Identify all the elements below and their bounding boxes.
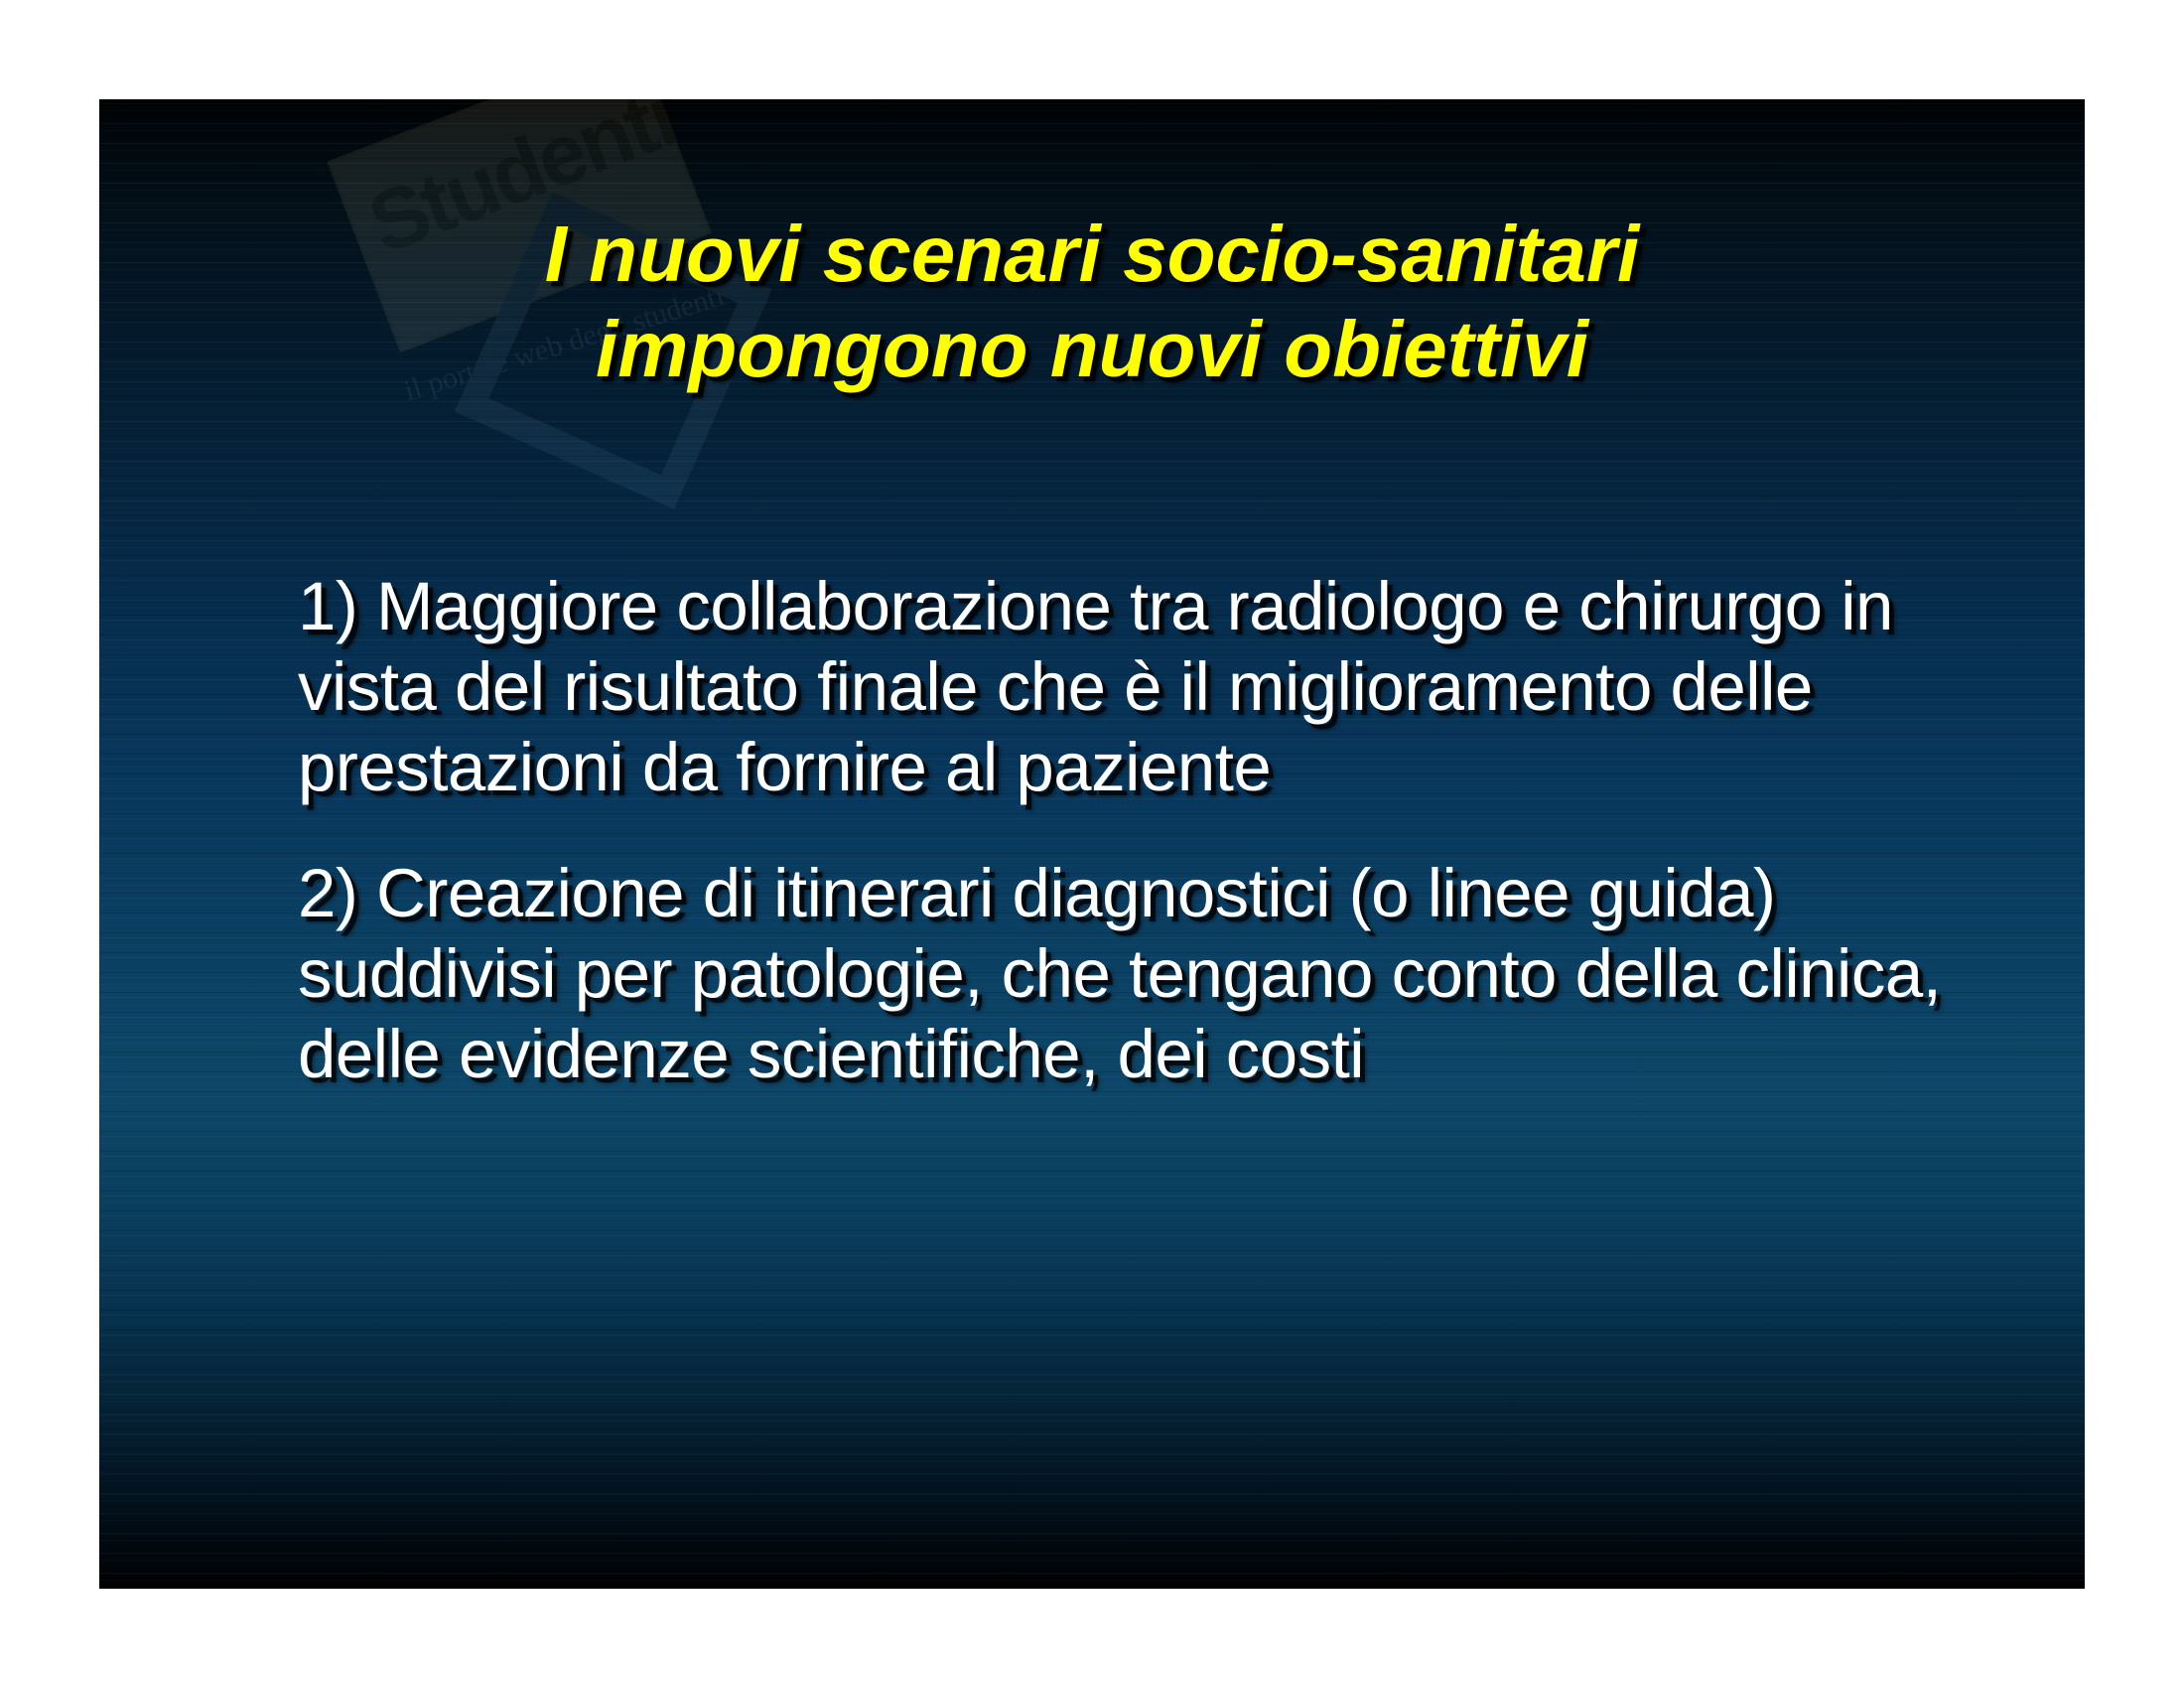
page-canvas: Studenti il portale web degli studenti I… (0, 0, 2184, 1688)
presentation-slide: Studenti il portale web degli studenti I… (99, 99, 2085, 1589)
slide-title: I nuovi scenari socio-sanitari impongono… (238, 207, 1946, 397)
slide-body: 1) Maggiore collaborazione tra radiologo… (298, 566, 1966, 1140)
body-paragraph-1: 1) Maggiore collaborazione tra radiologo… (298, 566, 1966, 807)
body-paragraph-2: 2) Creazione di itinerari diagnostici (o… (298, 853, 1966, 1094)
